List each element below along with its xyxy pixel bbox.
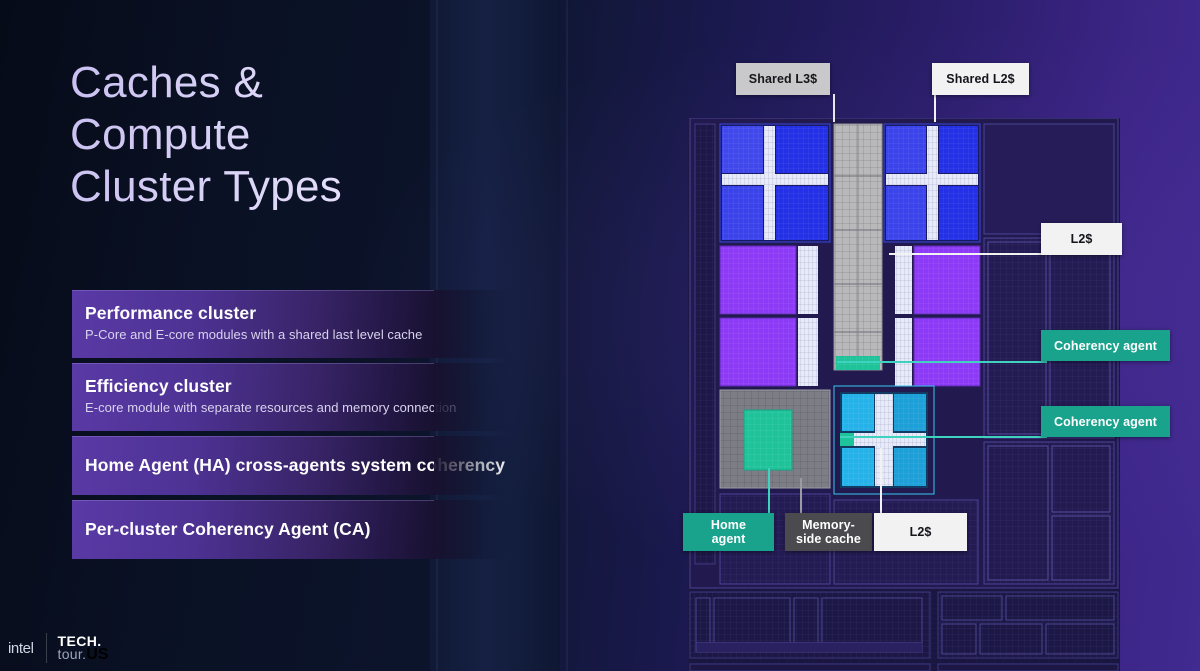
list-item-title: Home Agent (HA) cross-agents system cohe… xyxy=(85,454,434,477)
callout-label: L2$ xyxy=(1071,232,1093,246)
list-item-subtitle: P-Core and E-core modules with a shared … xyxy=(85,325,434,344)
leader-line-coherency-upper xyxy=(837,361,1047,363)
tech-tour-us: US xyxy=(86,646,108,663)
list-item-home-agent[interactable]: Home Agent (HA) cross-agents system cohe… xyxy=(72,436,434,495)
leader-line-l2-right xyxy=(889,253,1042,255)
callout-label-line-2: side cache xyxy=(796,532,861,546)
callout-shared-l2[interactable]: Shared L2$ xyxy=(932,63,1029,95)
page-title-line-3: Cluster Types xyxy=(70,161,470,213)
panel-seam-right xyxy=(566,0,568,671)
page-title-line-2: Compute xyxy=(70,109,470,161)
callout-label: Coherency agent xyxy=(1054,415,1157,429)
callout-coherency-agent-upper[interactable]: Coherency agent xyxy=(1041,330,1170,361)
callout-label-line-2: agent xyxy=(712,532,746,546)
page-title-line-1: Caches & xyxy=(70,57,470,109)
list-item-title: Efficiency cluster xyxy=(85,375,434,397)
leader-line-home-agent xyxy=(768,468,770,514)
callout-label: L2$ xyxy=(910,525,932,539)
bullet-list: Performance cluster P-Core and E-core mo… xyxy=(72,290,434,564)
coherency-agent-block-lower xyxy=(840,433,854,446)
footer-branding: intel TECH. tour.US xyxy=(8,633,109,663)
leader-line-coherency-lower xyxy=(840,436,1047,438)
leader-line-memory-side-cache xyxy=(800,478,802,514)
callout-memory-side-cache[interactable]: Memory- side cache xyxy=(785,513,872,551)
intel-logo: intel xyxy=(8,640,34,657)
list-item-title: Performance cluster xyxy=(85,302,434,324)
leader-line-shared-l2 xyxy=(934,94,936,122)
callout-label-line-1: Home xyxy=(711,518,746,532)
tech-tour-line-2: tour. xyxy=(58,646,87,662)
list-item-subtitle: E-core module with separate resources an… xyxy=(85,398,434,417)
list-item-performance-cluster[interactable]: Performance cluster P-Core and E-core mo… xyxy=(72,290,434,358)
callout-label: Coherency agent xyxy=(1054,339,1157,353)
tech-tour-logo: TECH. tour.US xyxy=(58,635,109,661)
callout-label-line-1: Memory- xyxy=(802,518,855,532)
ecore-module-top-right xyxy=(884,124,980,242)
ecore-module-top-left xyxy=(720,124,830,242)
callout-l2-right[interactable]: L2$ xyxy=(1041,223,1122,255)
die-floorplan-diagram xyxy=(688,118,1120,671)
callout-coherency-agent-lower[interactable]: Coherency agent xyxy=(1041,406,1170,437)
leader-line-shared-l3 xyxy=(833,94,835,122)
callout-shared-l3[interactable]: Shared L3$ xyxy=(736,63,830,95)
list-item-efficiency-cluster[interactable]: Efficiency cluster E-core module with se… xyxy=(72,363,434,431)
shared-l3-cache-block xyxy=(834,124,882,370)
callout-label: Shared L2$ xyxy=(946,72,1014,86)
page-title: Caches & Compute Cluster Types xyxy=(70,57,470,213)
list-item-coherency-agent[interactable]: Per-cluster Coherency Agent (CA) xyxy=(72,500,434,559)
list-item-title: Per-cluster Coherency Agent (CA) xyxy=(85,518,434,541)
callout-home-agent[interactable]: Home agent xyxy=(683,513,774,551)
efficiency-cluster-module xyxy=(834,386,934,494)
memory-side-cache-block xyxy=(720,390,830,488)
slide-root: Caches & Compute Cluster Types Performan… xyxy=(0,0,1200,671)
logo-divider xyxy=(46,633,47,663)
callout-l2-bottom[interactable]: L2$ xyxy=(874,513,967,551)
callout-label: Shared L3$ xyxy=(749,72,817,86)
leader-line-l2-bottom xyxy=(880,448,882,514)
